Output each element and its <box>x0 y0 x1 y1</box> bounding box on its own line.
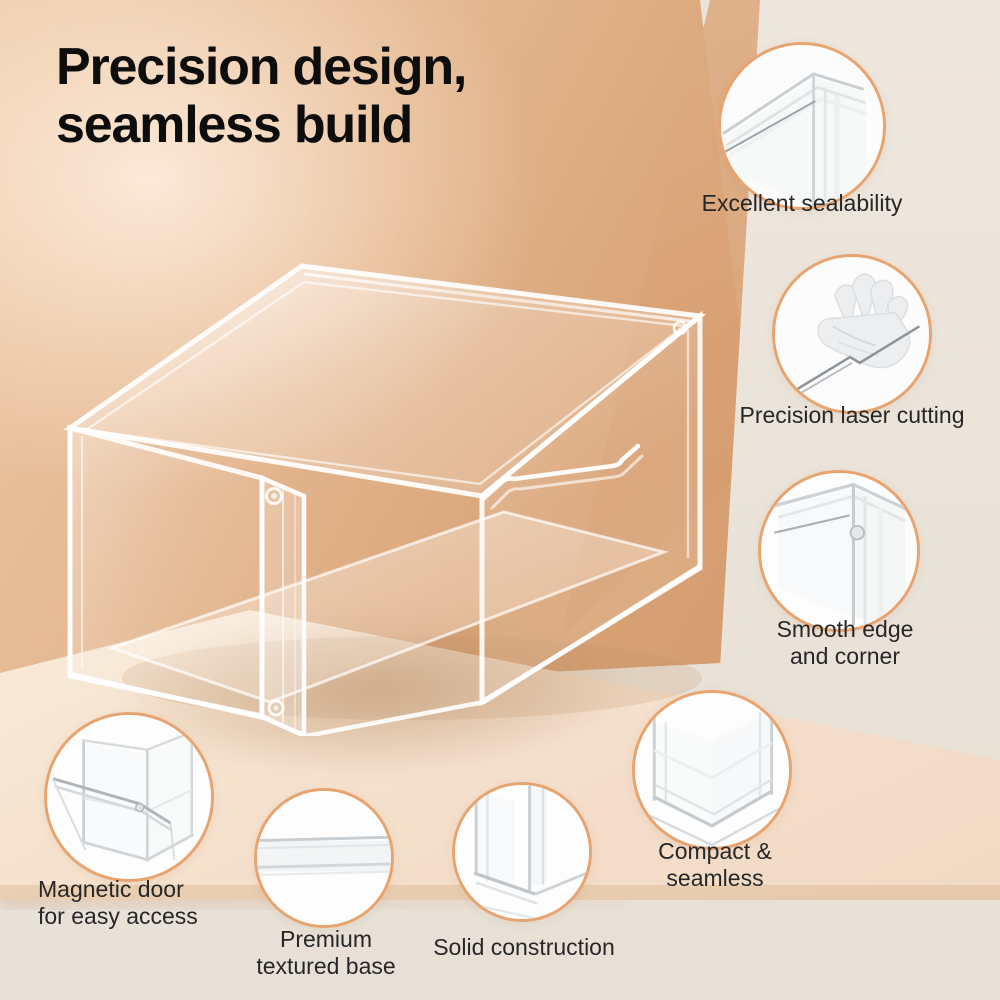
callout-compact-label: Compact & seamless <box>616 838 814 892</box>
callout-magnetic-label: Magnetic door for easy access <box>38 876 268 930</box>
acrylic-box-illustration <box>52 196 732 736</box>
box-base-joint-icon <box>455 785 589 919</box>
textured-base-strip-icon <box>257 791 391 925</box>
callout-base-image <box>254 788 394 928</box>
infographic-canvas: Precision design, seamless build <box>0 0 1000 1000</box>
callout-magnetic-image <box>44 712 214 882</box>
product-image <box>52 196 732 736</box>
callout-laser-image <box>772 254 932 414</box>
callout-edge-image <box>758 470 920 632</box>
callout-base-label: Premium textured base <box>250 926 402 980</box>
box-interior-corner-icon <box>635 693 789 847</box>
callout-sealability-image <box>718 42 886 210</box>
box-corner-edge-closeup-icon <box>761 473 917 629</box>
callout-solid-label: Solid construction <box>418 934 630 961</box>
callout-compact-image <box>632 690 792 850</box>
callout-solid-image <box>452 782 592 922</box>
gloved-hand-laser-cut-icon <box>775 257 929 411</box>
page-title: Precision design, seamless build <box>56 38 696 154</box>
callout-laser-label: Precision laser cutting <box>718 402 986 429</box>
callout-sealability-label: Excellent sealability <box>686 190 918 217</box>
open-magnetic-door-icon <box>47 715 211 879</box>
callout-edge-label: Smooth edge and corner <box>736 616 954 670</box>
box-corner-closeup-icon <box>721 45 883 207</box>
